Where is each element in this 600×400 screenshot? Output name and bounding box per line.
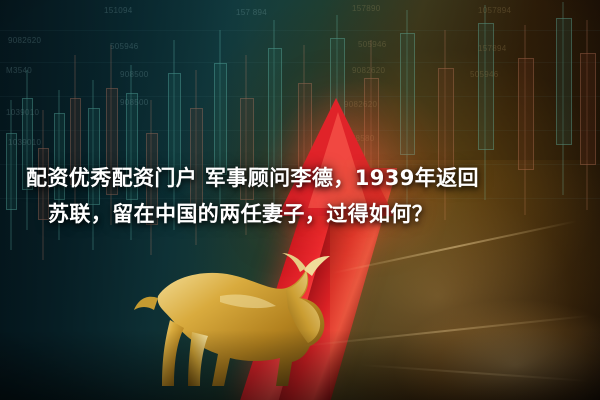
candlestick: [6, 0, 15, 400]
chart-price-label: 1039010: [6, 108, 39, 117]
headline-line-1: 配资优秀配资门户 军事顾问李德，1939年返回: [26, 160, 574, 196]
chart-price-label: 157894: [478, 44, 507, 53]
chart-price-label: 908500: [120, 70, 149, 79]
golden-bull-icon: [100, 236, 350, 386]
candlestick-body: [518, 58, 534, 170]
headline-text: 配资优秀配资门户 军事顾问李德，1939年返回 苏联，留在中国的两任妻子，过得如…: [26, 160, 574, 232]
chart-price-label: 505946: [110, 42, 139, 51]
chart-price-label: M3540: [6, 66, 32, 75]
candlestick-body: [214, 63, 227, 175]
candlestick-body: [580, 53, 596, 165]
candlestick-body: [556, 18, 572, 145]
chart-price-label: 151094: [104, 6, 133, 15]
chart-price-label: 1057894: [478, 6, 511, 15]
chart-price-label: 157 894: [236, 8, 267, 17]
candlestick: [580, 0, 594, 400]
chart-price-label: 505946: [470, 70, 499, 79]
chart-price-label: 908500: [120, 98, 149, 107]
chart-price-label: 157890: [352, 4, 381, 13]
chart-price-label: 9082620: [8, 36, 41, 45]
headline-line-2: 苏联，留在中国的两任妻子，过得如何？: [26, 196, 574, 232]
chart-price-label: 505946: [358, 40, 387, 49]
chart-price-label: 9082620: [352, 66, 385, 75]
chart-price-label: 1039010: [8, 138, 41, 147]
banner-image: 151094157 894157890105789490826205059465…: [0, 0, 600, 400]
